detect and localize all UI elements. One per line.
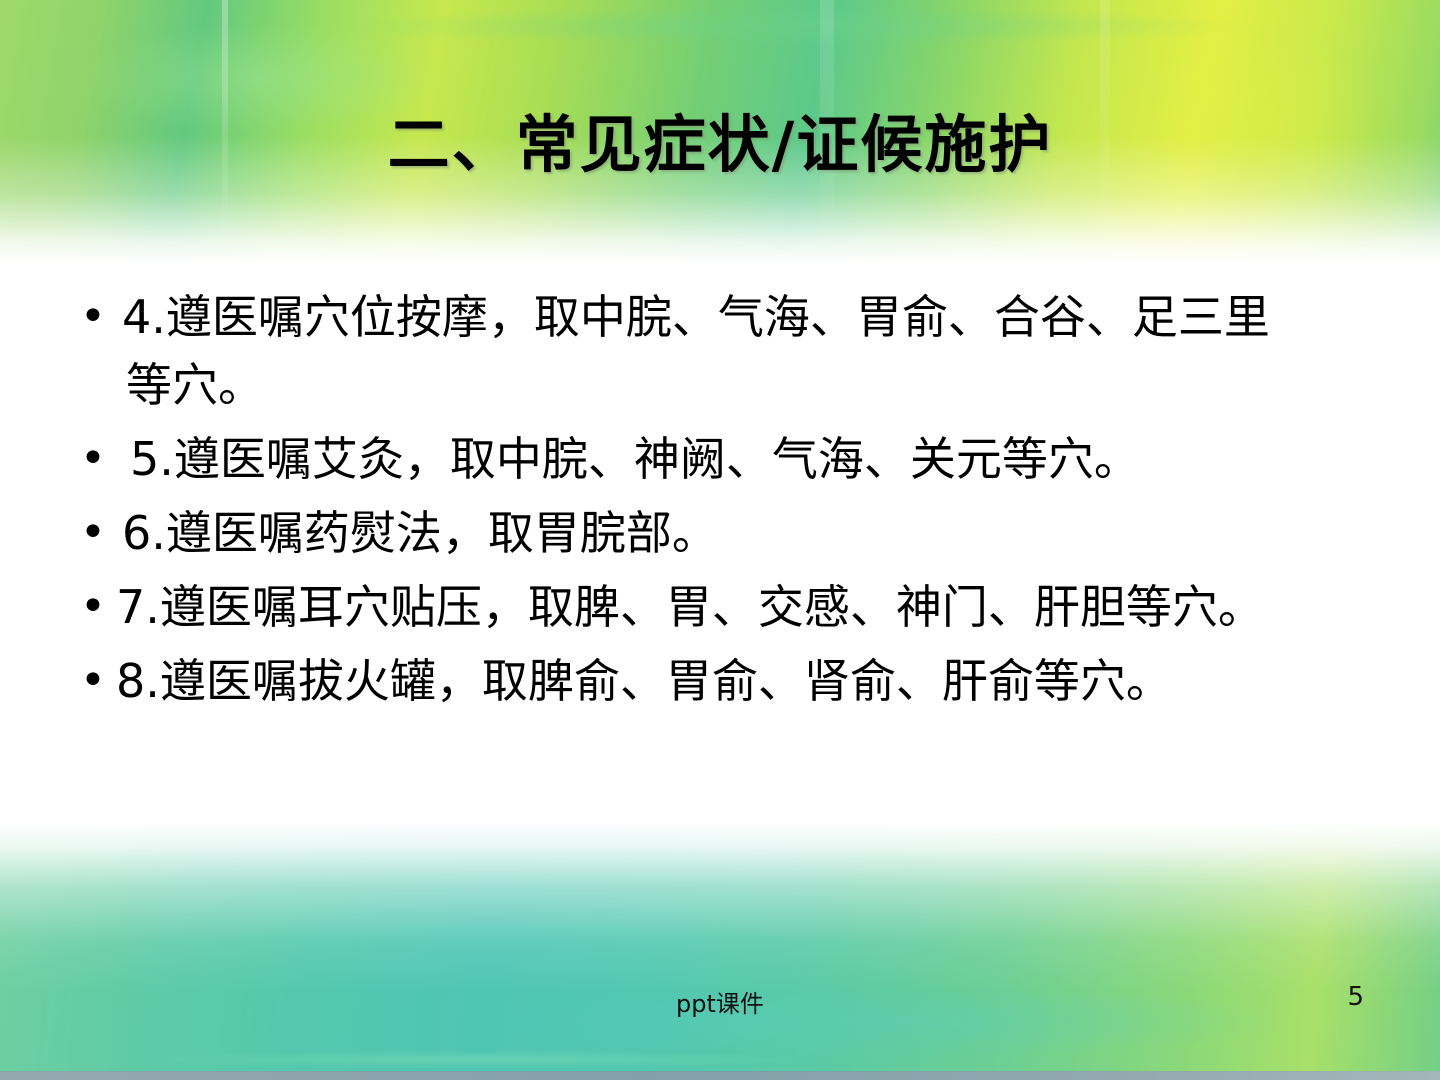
- list-item-text: 6.遵医嘱药熨法，取胃脘部。: [126, 499, 1311, 567]
- slide-footer-note: ppt课件: [0, 984, 1440, 1019]
- list-item[interactable]: • 5.遵医嘱艾灸，取中脘、神阙、气海、关元等穴。: [0, 425, 1440, 493]
- list-item[interactable]: • 7.遵医嘱耳穴贴压，取脾、胃、交感、神门、肝胆等穴。: [0, 573, 1440, 641]
- list-item[interactable]: • 8.遵医嘱拔火罐，取脾俞、胃俞、肾俞、肝俞等穴。: [0, 647, 1440, 715]
- slide-page-number: 5: [1347, 982, 1364, 1012]
- list-item[interactable]: • 6.遵医嘱药熨法，取胃脘部。: [0, 499, 1440, 567]
- bullet-icon: •: [80, 425, 126, 493]
- list-item-text: 7.遵医嘱耳穴贴压，取脾、胃、交感、神门、肝胆等穴。: [120, 573, 1300, 641]
- list-item-text: 4.遵医嘱穴位按摩，取中脘、气海、胃俞、合谷、足三里等穴。: [126, 283, 1311, 419]
- bottom-band-glow: [0, 822, 1440, 1072]
- slide-body-list: • 4.遵医嘱穴位按摩，取中脘、气海、胃俞、合谷、足三里等穴。 • 5.遵医嘱艾…: [0, 283, 1440, 721]
- bullet-icon: •: [80, 283, 126, 351]
- list-item[interactable]: • 4.遵医嘱穴位按摩，取中脘、气海、胃俞、合谷、足三里等穴。: [0, 283, 1440, 419]
- list-item-text: 8.遵医嘱拔火罐，取脾俞、胃俞、肾俞、肝俞等穴。: [120, 647, 1305, 715]
- bottom-accent-bar: [0, 1071, 1440, 1080]
- presentation-slide: 二、常见症状/证候施护 • 4.遵医嘱穴位按摩，取中脘、气海、胃俞、合谷、足三里…: [0, 0, 1440, 1080]
- slide-title: 二、常见症状/证候施护: [0, 112, 1440, 177]
- list-item-text: 5.遵医嘱艾灸，取中脘、神阙、气海、关元等穴。: [126, 425, 1311, 493]
- bullet-icon: •: [80, 499, 126, 567]
